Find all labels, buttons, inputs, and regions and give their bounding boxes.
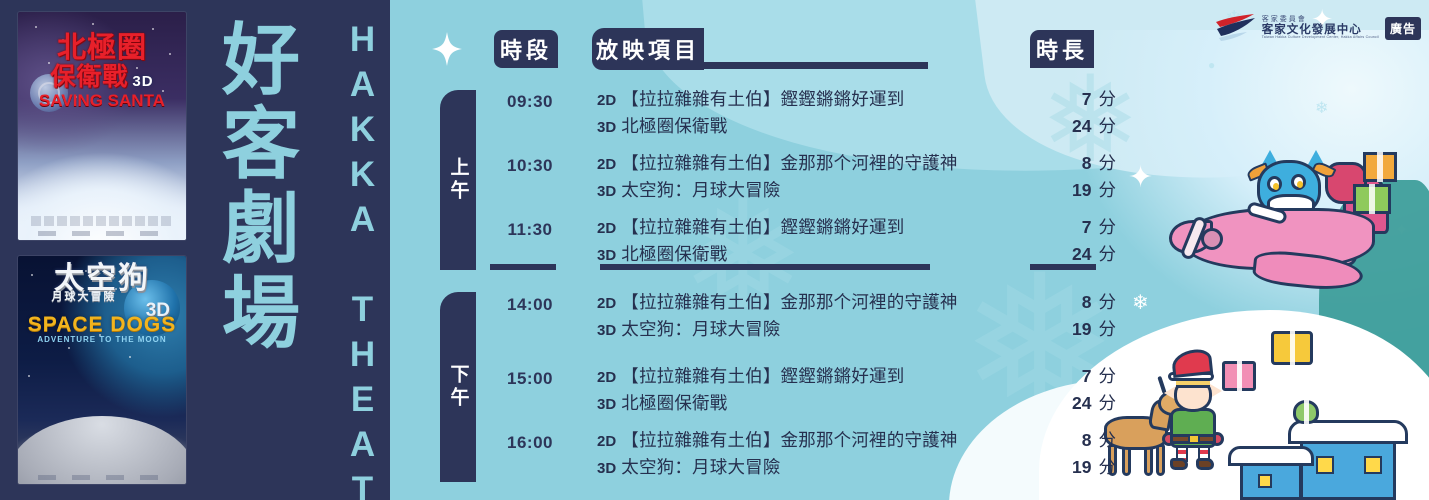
program-format: 2D [597,156,616,173]
duration-unit: 分 [1099,457,1117,477]
row-durations: 7分 24分 [1010,86,1116,140]
program-format: 2D [597,220,616,237]
program-format: 3D [597,183,616,200]
duration-unit: 分 [1099,393,1117,413]
program-format: 3D [597,322,616,339]
program-format: 2D [597,295,616,312]
dot-decoration: ● [1208,58,1215,72]
row-durations: 8分 19分 [1010,289,1116,343]
program-title: 【拉拉雜雜有土伯】金那那个河裡的守護神 [621,153,957,173]
program-line: 3D 北極圈保衛戰 [597,241,904,268]
row-programs: 2D 【拉拉雜雜有土伯】金那那个河裡的守護神 3D 太空狗：月球大冒險 [597,289,958,343]
duration-unit: 分 [1099,292,1117,312]
duration-line: 19分 [1010,454,1116,481]
duration-value: 7 [1082,89,1092,109]
program-line: 3D 北極圈保衛戰 [597,113,904,140]
program-line: 2D 【拉拉雜雜有土伯】金那那个河裡的守護神 [597,150,958,177]
program-line: 3D 北極圈保衛戰 [597,390,904,417]
duration-unit: 分 [1099,153,1117,173]
duration-line: 7分 [1010,363,1116,390]
row-programs: 2D 【拉拉雜雜有土伯】金那那个河裡的守護神 3D 太空狗：月球大冒險 [597,150,958,204]
duration-value: 8 [1082,292,1092,312]
duration-line: 24分 [1010,241,1116,268]
duration-unit: 分 [1099,319,1117,339]
poster-canvas: ❅ ❅ ❅ ❄ ❄ ❄ ✦ ✦ ● ❄ ❄ ❄ ❄ [0,0,1429,500]
table-row[interactable]: 16:00 2D 【拉拉雜雜有土伯】金那那个河裡的守護神 3D 太空狗：月球大冒… [0,423,1429,479]
program-title: 太空狗：月球大冒險 [621,457,780,477]
row-programs: 2D 【拉拉雜雜有土伯】鏗鏗鏘鏘好運到 3D 北極圈保衛戰 [597,86,904,140]
duration-value: 7 [1082,366,1092,386]
duration-unit: 分 [1099,116,1117,136]
duration-unit: 分 [1099,430,1117,450]
duration-line: 8分 [1010,150,1116,177]
table-row[interactable]: 09:30 2D 【拉拉雜雜有土伯】鏗鏗鏘鏘好運到 3D 北極圈保衛戰 7分 2… [0,82,1429,138]
program-title: 【拉拉雜雜有土伯】金那那个河裡的守護神 [621,292,957,312]
program-title: 北極圈保衛戰 [621,393,727,413]
table-row[interactable]: 10:30 2D 【拉拉雜雜有土伯】金那那个河裡的守護神 3D 太空狗：月球大冒… [0,146,1429,202]
table-row[interactable]: 14:00 2D 【拉拉雜雜有土伯】金那那个河裡的守護神 3D 太空狗：月球大冒… [0,285,1429,341]
duration-line: 8分 [1010,427,1116,454]
duration-line: 19分 [1010,177,1116,204]
org-name-en: Taiwan Hakka Culture Development Center,… [1262,36,1379,40]
organization-logo[interactable]: 客家委員會 客家文化發展中心 Taiwan Hakka Culture Deve… [1214,8,1421,48]
program-format: 2D [597,433,616,450]
table-row[interactable]: 11:30 2D 【拉拉雜雜有土伯】鏗鏗鏘鏘好運到 3D 北極圈保衛戰 7分 2… [0,210,1429,266]
program-format: 2D [597,92,616,109]
program-format: 3D [597,119,616,136]
duration-value: 24 [1072,244,1091,264]
program-title: 北極圈保衛戰 [621,116,727,136]
program-line: 2D 【拉拉雜雜有土伯】金那那个河裡的守護神 [597,427,958,454]
program-line: 2D 【拉拉雜雜有土伯】鏗鏗鏘鏘好運到 [597,363,904,390]
program-title: 【拉拉雜雜有土伯】鏗鏗鏘鏘好運到 [621,217,904,237]
row-time: 09:30 [492,92,568,112]
duration-unit: 分 [1099,244,1117,264]
program-header-rule [628,62,928,69]
program-line: 2D 【拉拉雜雜有土伯】金那那个河裡的守護神 [597,289,958,316]
program-format: 3D [597,247,616,264]
row-time: 11:30 [492,220,568,240]
duration-line: 24分 [1010,113,1116,140]
table-row[interactable]: 15:00 2D 【拉拉雜雜有土伯】鏗鏗鏘鏘好運到 3D 北極圈保衛戰 7分 2… [0,359,1429,415]
row-durations: 8分 19分 [1010,150,1116,204]
program-title: 【拉拉雜雜有土伯】鏗鏗鏘鏘好運到 [621,89,904,109]
duration-value: 7 [1082,217,1092,237]
program-line: 3D 太空狗：月球大冒險 [597,177,958,204]
duration-value: 24 [1072,116,1091,136]
duration-line: 7分 [1010,86,1116,113]
duration-value: 8 [1082,430,1092,450]
duration-line: 8分 [1010,289,1116,316]
duration-value: 19 [1072,457,1091,477]
row-time: 15:00 [492,369,568,389]
organization-name: 客家委員會 客家文化發展中心 Taiwan Hakka Culture Deve… [1262,16,1379,40]
program-line: 3D 太空狗：月球大冒險 [597,316,958,343]
program-title: 【拉拉雜雜有土伯】金那那个河裡的守護神 [621,430,957,450]
hakka-logo-icon [1214,13,1256,43]
program-format: 2D [597,369,616,386]
row-programs: 2D 【拉拉雜雜有土伯】鏗鏗鏘鏘好運到 3D 北極圈保衛戰 [597,363,904,417]
row-durations: 8分 19分 [1010,427,1116,481]
row-programs: 2D 【拉拉雜雜有土伯】金那那个河裡的守護神 3D 太空狗：月球大冒險 [597,427,958,481]
row-programs: 2D 【拉拉雜雜有土伯】鏗鏗鏘鏘好運到 3D 北極圈保衛戰 [597,214,904,268]
duration-line: 7分 [1010,214,1116,241]
sparkle-icon [432,32,462,66]
duration-unit: 分 [1099,180,1117,200]
duration-unit: 分 [1099,366,1117,386]
row-durations: 7分 24分 [1010,363,1116,417]
program-format: 3D [597,396,616,413]
program-line: 3D 太空狗：月球大冒險 [597,454,958,481]
program-line: 2D 【拉拉雜雜有土伯】鏗鏗鏘鏘好運到 [597,86,904,113]
row-time: 16:00 [492,433,568,453]
advertisement-badge: 廣告 [1385,17,1421,40]
duration-value: 24 [1072,393,1091,413]
org-name-small: 客家委員會 [1262,16,1379,24]
duration-value: 19 [1072,319,1091,339]
duration-line: 19分 [1010,316,1116,343]
column-header-slot: 時段 [494,30,558,68]
duration-line: 24分 [1010,390,1116,417]
program-title: 北極圈保衛戰 [621,244,727,264]
row-time: 10:30 [492,156,568,176]
row-time: 14:00 [492,295,568,315]
duration-value: 19 [1072,180,1091,200]
duration-unit: 分 [1099,89,1117,109]
row-durations: 7分 24分 [1010,214,1116,268]
program-line: 2D 【拉拉雜雜有土伯】鏗鏗鏘鏘好運到 [597,214,904,241]
duration-value: 8 [1082,153,1092,173]
poster-title-line1: 北極圈 [18,34,186,64]
program-title: 太空狗：月球大冒險 [621,180,780,200]
program-title: 【拉拉雜雜有土伯】鏗鏗鏘鏘好運到 [621,366,904,386]
column-header-duration: 時長 [1030,30,1094,68]
program-format: 3D [597,460,616,477]
duration-unit: 分 [1099,217,1117,237]
program-title: 太空狗：月球大冒險 [621,319,780,339]
